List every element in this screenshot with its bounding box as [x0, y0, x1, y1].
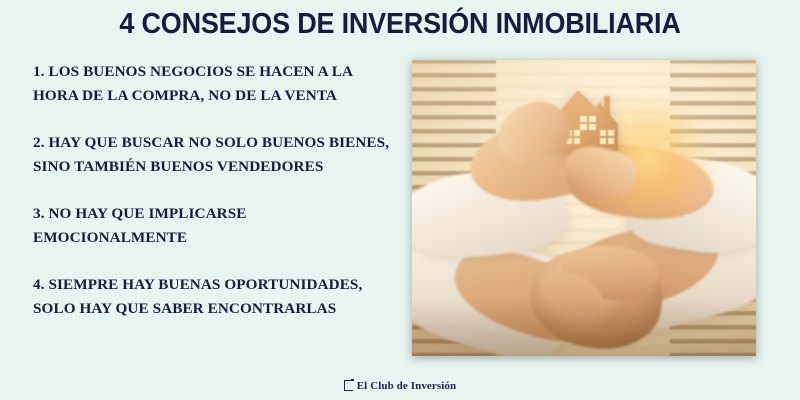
brand-logo: El Club de Inversión	[344, 380, 457, 392]
list-item: 1. LOS BUENOS NEGOCIOS SE HACEN A LA HOR…	[33, 60, 398, 108]
bracket-logo-icon	[344, 380, 353, 391]
page-title: 4 CONSEJOS DE INVERSIÓN INMOBILIARIA	[28, 8, 772, 41]
infographic-slide: 4 CONSEJOS DE INVERSIÓN INMOBILIARIA 1. …	[0, 0, 800, 400]
list-item: 2. HAY QUE BUSCAR NO SOLO BUENOS BIENES,…	[33, 131, 398, 179]
handshake-house-photo	[412, 60, 756, 356]
brand-name: El Club de Inversión	[357, 380, 457, 392]
tips-list: 1. LOS BUENOS NEGOCIOS SE HACEN A LA HOR…	[33, 60, 398, 321]
list-item: 3. NO HAY QUE IMPLICARSE EMOCIONALMENTE	[33, 202, 398, 250]
footer: El Club de Inversión	[0, 378, 800, 396]
photo-canvas	[412, 60, 756, 356]
photo-bottom-shadow	[412, 298, 756, 356]
list-item: 4. SIEMPRE HAY BUENAS OPORTUNIDADES, SOL…	[33, 273, 398, 321]
